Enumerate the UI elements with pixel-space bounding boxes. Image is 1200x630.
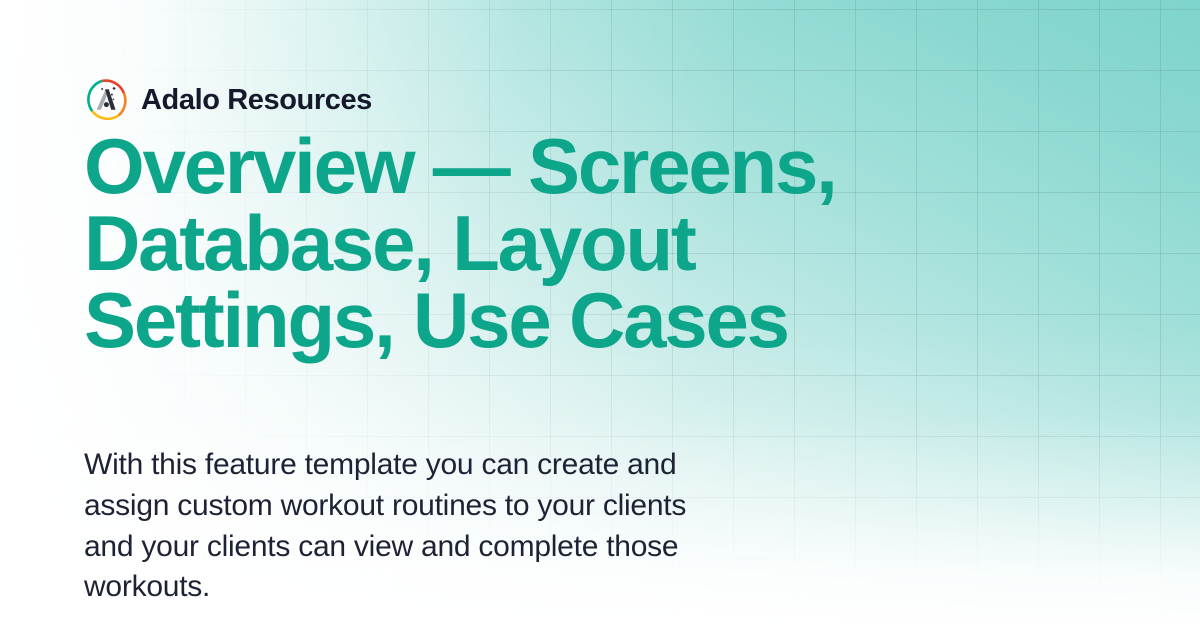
brand-name-label: Adalo Resources xyxy=(141,86,372,115)
brand-lockup: Adalo Resources xyxy=(84,78,372,122)
social-card: Adalo Resources Overview — Screens, Data… xyxy=(0,0,1200,630)
card-content: Adalo Resources Overview — Screens, Data… xyxy=(84,0,1124,630)
page-title: Overview — Screens, Database, Layout Set… xyxy=(84,128,984,360)
page-description: With this feature template you can creat… xyxy=(84,445,874,608)
adalo-logo-icon xyxy=(84,78,128,122)
